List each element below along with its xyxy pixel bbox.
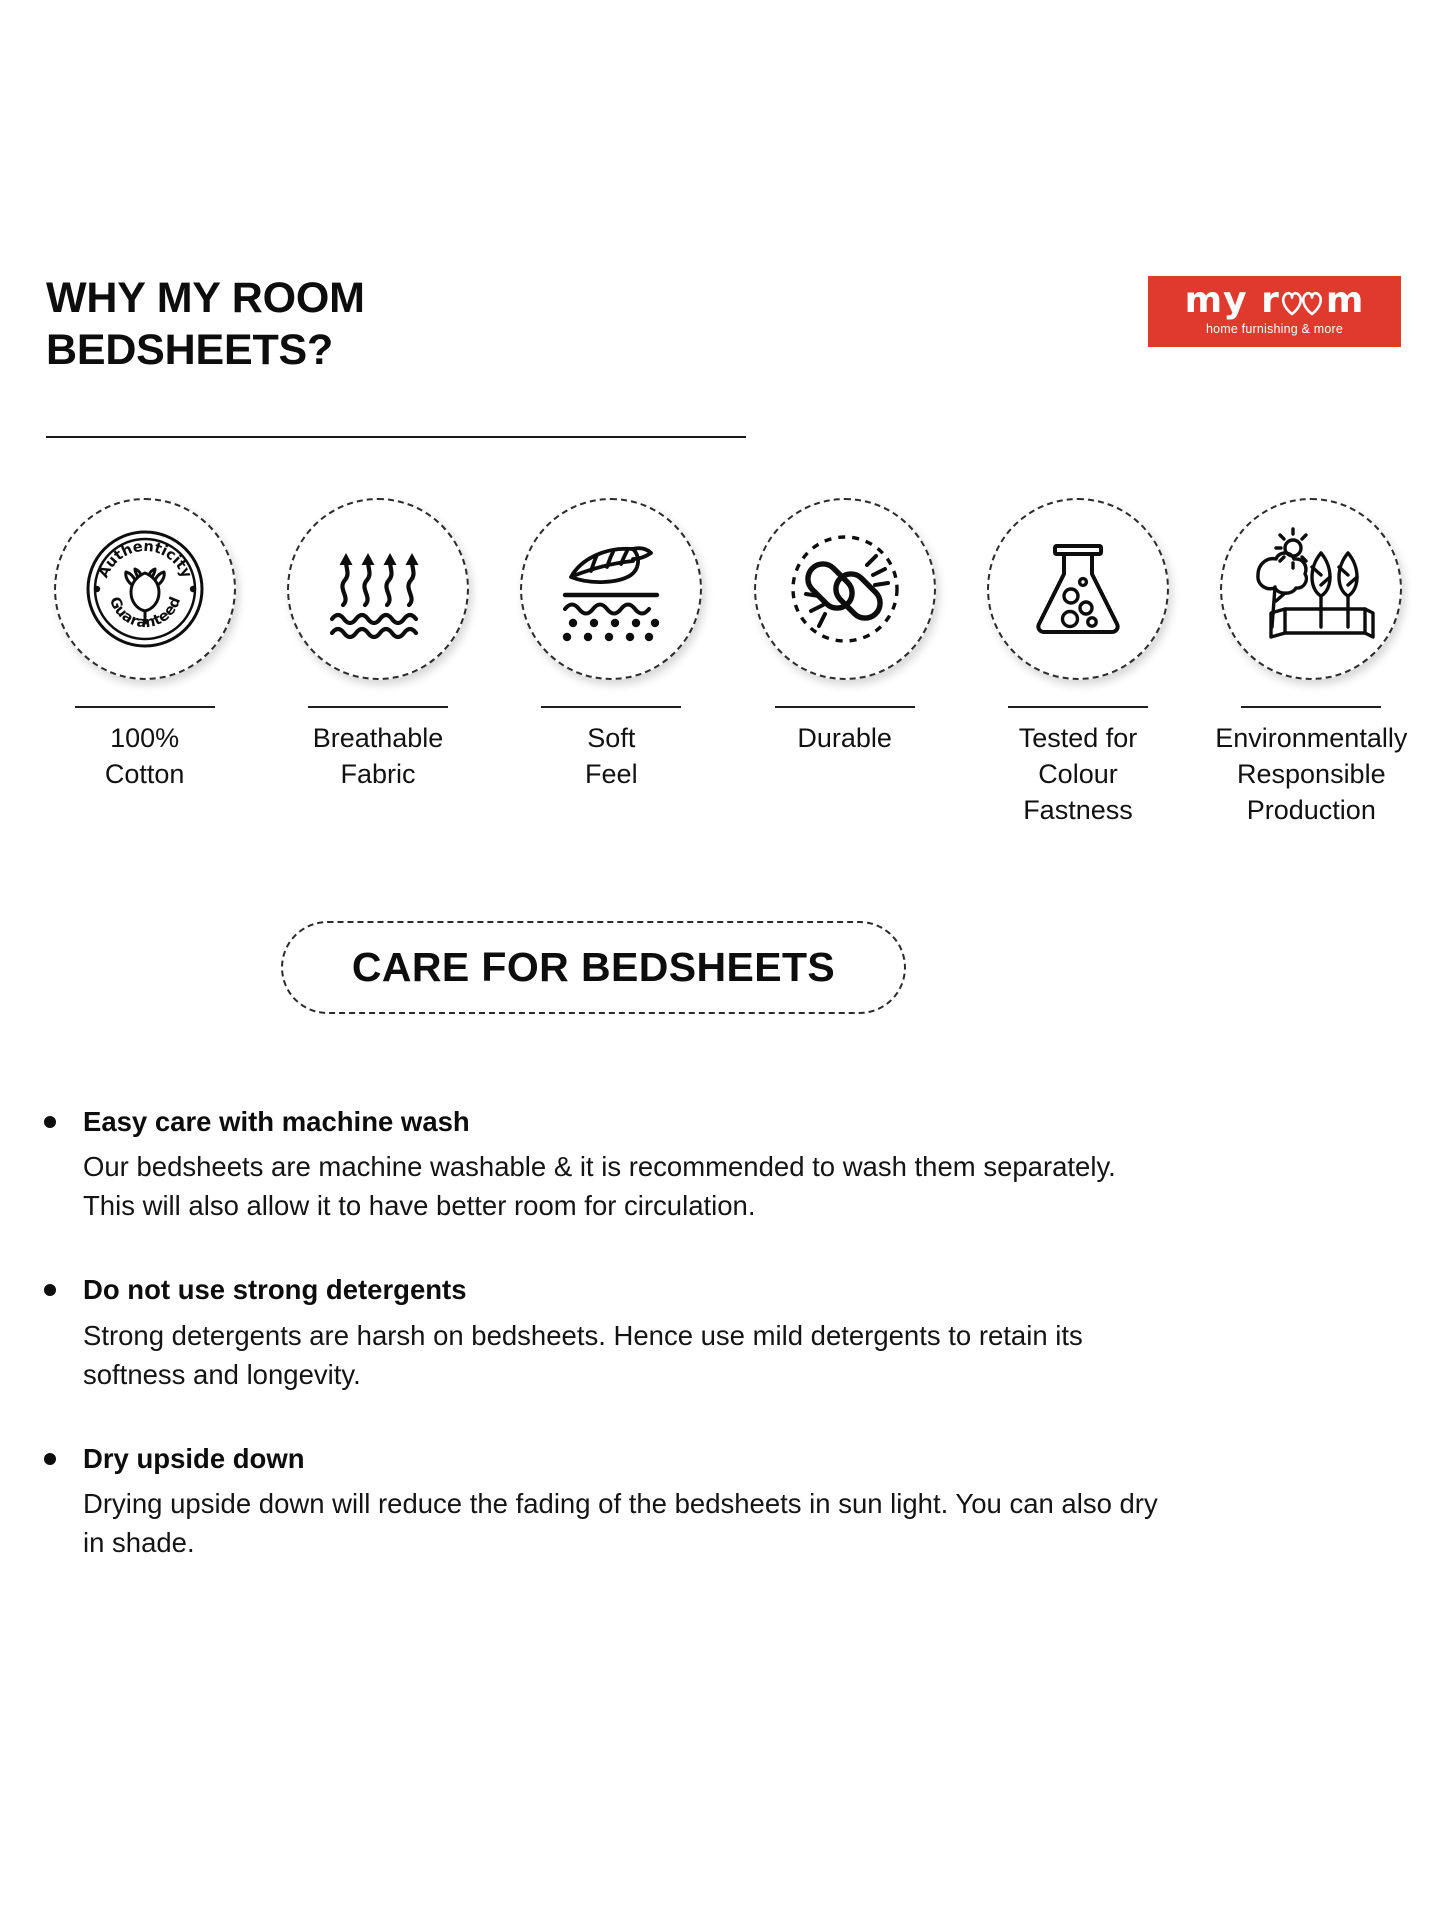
feature-item: Soft Feel bbox=[495, 498, 728, 793]
care-item-title: Easy care with machine wash bbox=[83, 1105, 470, 1139]
breathable-fabric-icon bbox=[316, 527, 440, 651]
feature-divider bbox=[541, 706, 681, 708]
feature-label: Environmentally Responsible Production bbox=[1215, 721, 1407, 829]
soft-feather-icon bbox=[547, 525, 675, 653]
care-item-heading: Do not use strong detergents bbox=[44, 1273, 1364, 1307]
feature-icon-circle bbox=[754, 498, 936, 680]
lab-flask-icon bbox=[1019, 530, 1137, 648]
feature-item: Durable bbox=[728, 498, 961, 757]
chain-link-durable-icon bbox=[775, 519, 915, 659]
bullet-icon bbox=[44, 1453, 56, 1465]
feature-divider bbox=[1008, 706, 1148, 708]
feature-item: Tested for Colour Fastness bbox=[961, 498, 1194, 829]
care-item-title: Dry upside down bbox=[83, 1442, 305, 1476]
care-list-item: Dry upside down Drying upside down will … bbox=[44, 1442, 1364, 1562]
feature-label: Tested for Colour Fastness bbox=[1019, 721, 1138, 829]
feature-item: Breathable Fabric bbox=[261, 498, 494, 793]
care-item-heading: Easy care with machine wash bbox=[44, 1105, 1364, 1139]
feature-divider bbox=[775, 706, 915, 708]
feature-divider bbox=[1241, 706, 1381, 708]
page-title: WHY MY ROOM BEDSHEETS? bbox=[46, 272, 365, 377]
feature-icon-circle bbox=[1220, 498, 1402, 680]
feature-label: Durable bbox=[797, 721, 892, 757]
bullet-icon bbox=[44, 1284, 56, 1296]
logo-wordmark: my r m bbox=[1148, 283, 1401, 319]
care-item-heading: Dry upside down bbox=[44, 1442, 1364, 1476]
feature-item: Environmentally Responsible Production bbox=[1195, 498, 1428, 829]
double-heart-icon bbox=[1280, 286, 1326, 316]
feature-label: Soft Feel bbox=[585, 721, 638, 793]
logo-word-r: r bbox=[1261, 280, 1280, 321]
feature-divider bbox=[308, 706, 448, 708]
page-header: WHY MY ROOM BEDSHEETS? my r m home furni… bbox=[46, 272, 1401, 377]
care-instructions-list: Easy care with machine wash Our bedsheet… bbox=[44, 1105, 1364, 1562]
feature-icon-circle bbox=[287, 498, 469, 680]
care-list-item: Do not use strong detergents Strong dete… bbox=[44, 1273, 1364, 1393]
care-list-item: Easy care with machine wash Our bedsheet… bbox=[44, 1105, 1364, 1225]
brand-logo: my r m home furnishing & more bbox=[1148, 276, 1401, 347]
care-item-body: Our bedsheets are machine washable & it … bbox=[83, 1147, 1168, 1225]
authenticity-guaranteed-seal-icon: Authenticity Guaranteed bbox=[75, 519, 215, 659]
infographic-page: WHY MY ROOM BEDSHEETS? my r m home furni… bbox=[0, 0, 1445, 1927]
title-divider bbox=[46, 436, 746, 438]
feature-label: Breathable Fabric bbox=[313, 721, 444, 793]
care-item-body: Drying upside down will reduce the fadin… bbox=[83, 1484, 1168, 1562]
care-for-bedsheets-banner: CARE FOR BEDSHEETS bbox=[281, 921, 906, 1014]
feature-icon-circle bbox=[987, 498, 1169, 680]
trees-sun-banner-icon bbox=[1245, 523, 1377, 655]
care-banner-label: CARE FOR BEDSHEETS bbox=[352, 944, 835, 991]
feature-divider bbox=[75, 706, 215, 708]
feature-strip: Authenticity Guaranteed bbox=[28, 498, 1428, 829]
care-item-body: Strong detergents are harsh on bedsheets… bbox=[83, 1316, 1168, 1394]
feature-icon-circle bbox=[520, 498, 702, 680]
feature-label: 100% Cotton bbox=[105, 721, 185, 793]
logo-word-m: m bbox=[1326, 280, 1365, 321]
bullet-icon bbox=[44, 1116, 56, 1128]
care-item-title: Do not use strong detergents bbox=[83, 1273, 467, 1307]
feature-item: Authenticity Guaranteed bbox=[28, 498, 261, 793]
logo-tagline: home furnishing & more bbox=[1148, 322, 1401, 336]
logo-word-my: my bbox=[1185, 280, 1248, 321]
feature-icon-circle: Authenticity Guaranteed bbox=[54, 498, 236, 680]
